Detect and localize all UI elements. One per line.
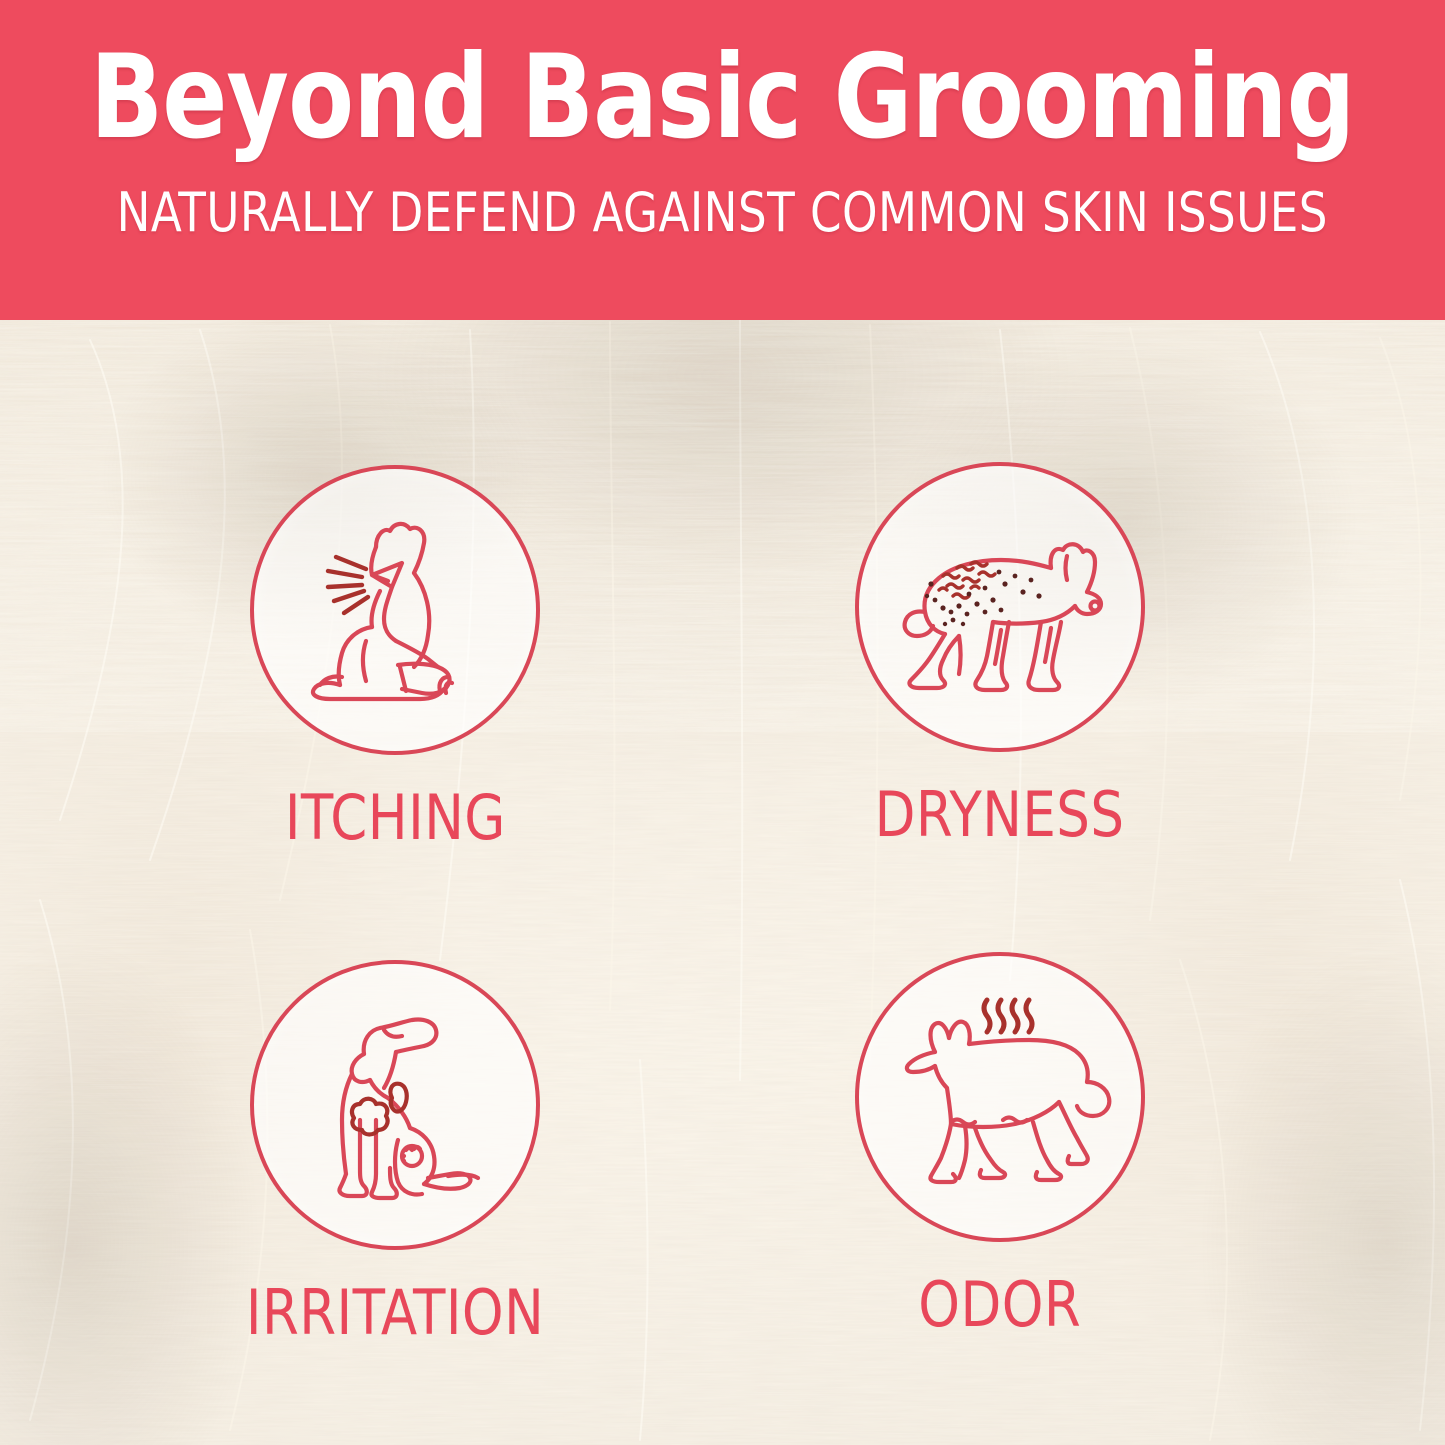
page-title: Beyond Basic Grooming: [90, 40, 1354, 156]
page-subtitle: NATURALLY DEFEND AGAINST COMMON SKIN ISS…: [117, 186, 1328, 240]
issue-card-odor: ODOR: [790, 952, 1210, 1336]
dog-flaky-skin-icon: [881, 488, 1119, 726]
header-banner: Beyond Basic Grooming NATURALLY DEFEND A…: [0, 0, 1445, 320]
issue-icon-circle-dryness: [855, 462, 1145, 752]
itch-motion-lines: [328, 557, 368, 613]
issue-icon-circle-odor: [855, 952, 1145, 1242]
issue-label-irritation: IRRITATION: [246, 1282, 544, 1344]
issue-label-odor: ODOR: [919, 1274, 1082, 1336]
dog-scratching-icon: [280, 495, 510, 725]
dog-odor-icon: [881, 978, 1119, 1216]
poster: Beyond Basic Grooming NATURALLY DEFEND A…: [0, 0, 1445, 1445]
issue-label-itching: ITCHING: [284, 787, 505, 849]
issue-card-irritation: IRRITATION: [185, 960, 605, 1344]
issue-card-itching: ITCHING: [185, 465, 605, 849]
dog-irritated-skin-icon: [280, 990, 510, 1220]
odor-wave-lines: [984, 1000, 1032, 1032]
issue-card-dryness: DRYNESS: [790, 462, 1210, 846]
issue-label-dryness: DRYNESS: [875, 784, 1125, 846]
issue-icon-circle-irritation: [250, 960, 540, 1250]
issue-icon-circle-itching: [250, 465, 540, 755]
issues-grid: ITCHING: [0, 320, 1445, 1445]
